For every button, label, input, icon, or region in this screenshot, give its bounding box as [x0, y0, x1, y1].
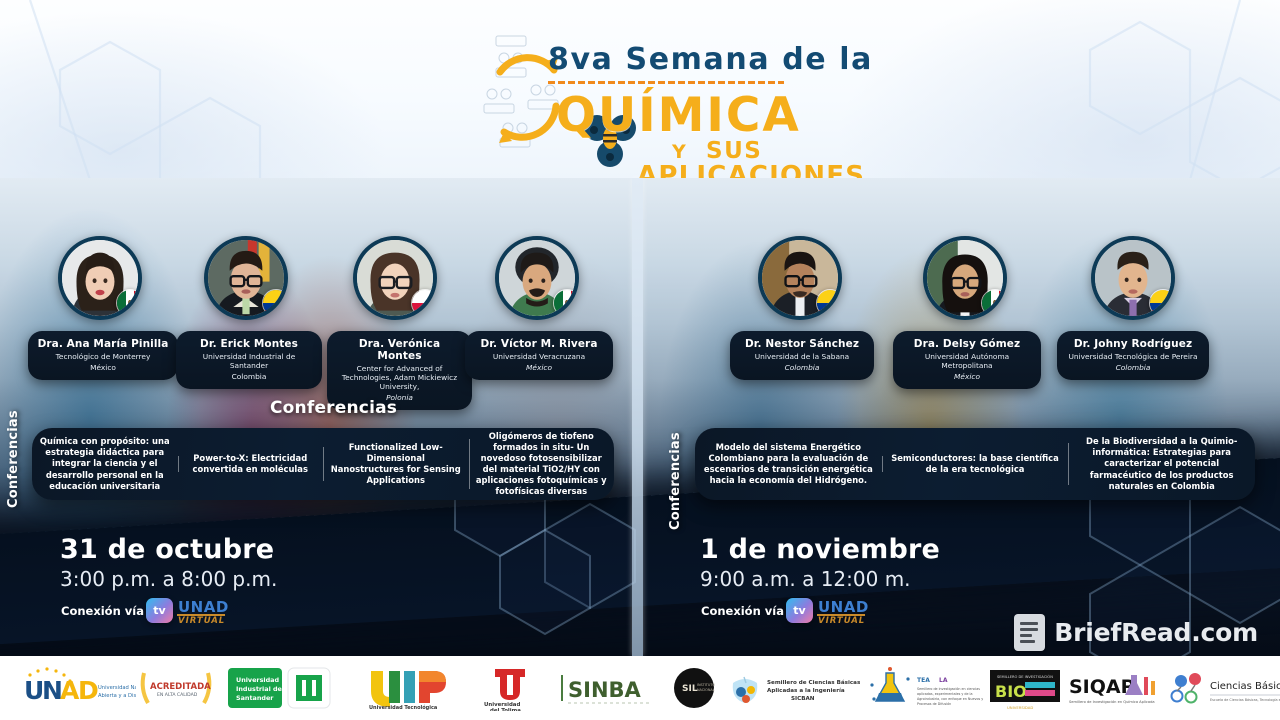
- speaker-country-text: Colombia: [1116, 363, 1151, 372]
- event-title-y: Y: [672, 141, 686, 163]
- panel-divider: [632, 178, 643, 656]
- svg-text:del Tolima: del Tolima: [490, 708, 521, 711]
- speaker-name-card: Dr. Nestor Sánchez Universidad de la Sab…: [730, 331, 874, 380]
- avatar: [923, 236, 1007, 320]
- avatar: [1091, 236, 1175, 320]
- svg-text:Aplicadas a la Ingeniería: Aplicadas a la Ingeniería: [767, 687, 845, 694]
- sponsor-logo-ciencias-basicas[interactable]: Ciencias Básicas Escuela de Ciencias Bás…: [1165, 662, 1280, 714]
- unad-virtual-text-left: VIRTUAL: [178, 616, 225, 626]
- svg-text:Universidad Tecnológica: Universidad Tecnológica: [369, 704, 437, 711]
- speaker-name-card: Dra. Ana María Pinilla Tecnológico de Mo…: [28, 331, 178, 380]
- title-underline-rule: [548, 81, 784, 84]
- sponsor-logo-tolima[interactable]: Universidad del Tolima: [467, 662, 553, 714]
- sponsor-logo-sicban[interactable]: Semillero de Ciencias Básicas Aplicadas …: [725, 662, 860, 714]
- talk-item[interactable]: Semiconductores: la base científica de l…: [882, 453, 1069, 475]
- svg-text:Industrial de: Industrial de: [236, 685, 283, 693]
- svg-text:SICBAN: SICBAN: [791, 696, 815, 702]
- speaker-affiliation: Universidad Veracruzana: [474, 352, 604, 361]
- utp-logo-icon: Universidad Tecnológica: [357, 665, 467, 711]
- sponsor-logo-seal[interactable]: SIL INSTITUTO NACIONAL: [663, 662, 725, 714]
- svg-text:Agroindustria, con enfoque en: Agroindustria, con enfoque en Nuevos y: [917, 697, 983, 701]
- event-date-right: 1 de noviembre: [700, 534, 940, 565]
- speaker-affiliation: Universidad Tecnológica de Pereira: [1066, 352, 1200, 361]
- speaker-name-card: Dr. Víctor M. Rivera Universidad Veracru…: [465, 331, 613, 380]
- conferencias-strip-right: Modelo del sistema Energético Colombiano…: [695, 428, 1255, 500]
- ciencias-basicas-logo-icon: Ciencias Básicas Escuela de Ciencias Bás…: [1165, 665, 1280, 711]
- speaker-country: México: [474, 363, 604, 372]
- svg-text:Santander: Santander: [236, 694, 274, 702]
- unad-tv-icon[interactable]: tv: [146, 598, 173, 623]
- svg-text:Procesos de Difusión: Procesos de Difusión: [917, 702, 951, 706]
- svg-text:ACREDITADA: ACREDITADA: [150, 682, 211, 692]
- svg-text:aplicadas, experimentales y de: aplicadas, experimentales y de la: [917, 692, 972, 696]
- acreditada-seal-icon: ACREDITADA EN ALTA CALIDAD: [136, 665, 216, 711]
- talk-item[interactable]: Oligómeros de tiofeno formados in situ- …: [469, 431, 615, 498]
- briefread-watermark[interactable]: BriefRead.com: [1014, 614, 1258, 651]
- connection-label-right: Conexión vía: [701, 604, 784, 618]
- header-band: 8va Semana de la QUÍMICA Y SUS APLICACIO…: [0, 0, 1280, 180]
- speaker-country: México: [37, 363, 169, 372]
- title-lockup: 8va Semana de la QUÍMICA Y SUS APLICACIO…: [0, 28, 1280, 178]
- speaker-country-text: Colombia: [785, 363, 820, 372]
- svg-text:Ciencias Básicas: Ciencias Básicas: [1210, 680, 1280, 692]
- speaker-name: Dr. Erick Montes: [185, 338, 313, 350]
- speaker-name: Dr. Johny Rodríguez: [1066, 338, 1200, 350]
- svg-text:SIQAP: SIQAP: [1069, 676, 1135, 698]
- svg-text:A: A: [60, 676, 80, 705]
- event-title-quimica: QUÍMICA: [556, 88, 801, 143]
- svg-text:SINBA: SINBA: [568, 678, 642, 702]
- svg-text:EN ALTA CALIDAD: EN ALTA CALIDAD: [157, 692, 198, 698]
- speaker-name: Dra. Verónica Montes: [336, 338, 463, 362]
- svg-text:Semillero de investigación en: Semillero de investigación en ciencias: [917, 687, 980, 691]
- svg-text:Universidad: Universidad: [236, 676, 279, 684]
- event-time-left: 3:00 p.m. a 8:00 p.m.: [60, 567, 277, 591]
- conferencias-side-label-left: Conferencias: [6, 418, 21, 508]
- black-circular-seal-icon: SIL INSTITUTO NACIONAL: [663, 665, 725, 711]
- document-icon: [1014, 614, 1045, 651]
- sponsor-logo-bio[interactable]: SEMILLERO DE INVESTIGACIÓN BIO UNIVERSID…: [985, 662, 1065, 714]
- sponsor-logo-siqap[interactable]: SIQAP Semillero de Investigación en Quím…: [1065, 662, 1165, 714]
- talk-item[interactable]: Functionalized Low-Dimensional Nanostruc…: [323, 442, 469, 486]
- svg-text:Universidad Nacional: Universidad Nacional: [98, 685, 136, 691]
- speaker-country: Colombia: [185, 372, 313, 381]
- watermark-text: BriefRead.com: [1054, 618, 1258, 647]
- speaker-affiliation: Tecnológico de Monterrey: [37, 352, 169, 361]
- sinba-logo-icon: SINBA: [553, 665, 663, 711]
- poster-root: 8va Semana de la QUÍMICA Y SUS APLICACIO…: [0, 0, 1280, 720]
- sponsor-logo-unad[interactable]: U N A D Universidad Nacional Abierta y a…: [16, 662, 136, 714]
- avatar: [495, 236, 579, 320]
- uis-logo-icon: Universidad Industrial de Santander: [226, 665, 351, 711]
- sponsor-logo-acreditada[interactable]: ACREDITADA EN ALTA CALIDAD: [136, 662, 216, 714]
- avatar: [353, 236, 437, 320]
- event-time-right: 9:00 a.m. a 12:00 m.: [700, 567, 911, 591]
- svg-text:Escuela de Ciencias Básicas, T: Escuela de Ciencias Básicas, Tecnología …: [1210, 698, 1280, 702]
- talk-item[interactable]: De la Biodiversidad a la Quimio-informát…: [1068, 436, 1255, 491]
- conferencias-side-label-right: Conferencias: [668, 440, 683, 530]
- svg-text:BIO: BIO: [995, 682, 1027, 701]
- speaker-affiliation: Universidad de la Sabana: [739, 352, 865, 361]
- sponsor-logo-sinba[interactable]: SINBA: [553, 662, 663, 714]
- speaker-country: Colombia: [1066, 363, 1200, 372]
- speaker-country: Colombia: [739, 363, 865, 372]
- speaker-name: Dra. Ana María Pinilla: [37, 338, 169, 350]
- event-title-line1: 8va Semana de la: [548, 42, 873, 77]
- unad-tv-icon[interactable]: tv: [786, 598, 813, 623]
- speaker-name: Dr. Nestor Sánchez: [739, 338, 865, 350]
- svg-text:SIL: SIL: [682, 684, 698, 694]
- svg-text:TEA: TEA: [917, 677, 930, 684]
- speaker-country-text: México: [954, 372, 980, 381]
- speaker-name: Dra. Delsy Gómez: [902, 338, 1032, 350]
- svg-text:Semillero de Ciencias Básicas: Semillero de Ciencias Básicas: [767, 679, 860, 686]
- svg-text:INSTITUTO: INSTITUTO: [697, 683, 715, 687]
- speaker-country-text: México: [526, 363, 552, 372]
- svg-text:SEMILLERO DE INVESTIGACIÓN: SEMILLERO DE INVESTIGACIÓN: [997, 674, 1053, 679]
- sponsor-logo-utp[interactable]: Universidad Tecnológica: [357, 662, 467, 714]
- speaker-name-card: Dr. Erick Montes Universidad Industrial …: [176, 331, 322, 389]
- svg-text:D: D: [78, 676, 99, 705]
- sicban-logo-icon: Semillero de Ciencias Básicas Aplicadas …: [725, 665, 860, 711]
- talk-item[interactable]: Modelo del sistema Energético Colombiano…: [695, 442, 882, 486]
- flask-research-group-icon: TEA LA Semillero de investigación en cie…: [860, 665, 985, 711]
- unad-virtual-text-right: VIRTUAL: [818, 616, 865, 626]
- speaker-name-card: Dr. Johny Rodríguez Universidad Tecnológ…: [1057, 331, 1209, 380]
- siqap-logo-icon: SIQAP Semillero de Investigación en Quím…: [1065, 665, 1165, 711]
- speaker-name-card: Dra. Delsy Gómez Universidad Autónoma Me…: [893, 331, 1041, 389]
- conferencias-heading: Conferencias: [270, 398, 397, 418]
- speaker-country: México: [902, 372, 1032, 381]
- speaker-affiliation: Universidad Industrial de Santander: [185, 352, 313, 370]
- avatar: [204, 236, 288, 320]
- event-date-left: 31 de octubre: [60, 534, 274, 565]
- svg-text:LA: LA: [939, 677, 948, 684]
- sponsor-logo-bar: U N A D Universidad Nacional Abierta y a…: [0, 656, 1280, 720]
- sponsor-logo-flask-group[interactable]: TEA LA Semillero de investigación en cie…: [860, 662, 985, 714]
- unad-logo-icon: U N A D Universidad Nacional Abierta y a…: [16, 665, 136, 711]
- talk-item[interactable]: Power-to-X: Electricidad convertida en m…: [178, 453, 324, 475]
- avatar: [58, 236, 142, 320]
- sponsor-logo-uis[interactable]: Universidad Industrial de Santander: [226, 662, 351, 714]
- connection-label-left: Conexión vía: [61, 604, 144, 618]
- bio-logo-icon: SEMILLERO DE INVESTIGACIÓN BIO UNIVERSID…: [985, 665, 1065, 711]
- speaker-affiliation: Universidad Autónoma Metropolitana: [902, 352, 1032, 370]
- svg-text:Semillero de Investigación en: Semillero de Investigación en Química Ap…: [1069, 700, 1155, 704]
- speaker-affiliation: Center for Advanced of Technologies, Ada…: [336, 364, 463, 391]
- svg-text:UNIVERSIDAD: UNIVERSIDAD: [1007, 705, 1033, 710]
- conferencias-strip-left: Química con propósito: una estrategia di…: [32, 428, 614, 500]
- svg-text:NACIONAL: NACIONAL: [697, 688, 715, 692]
- svg-text:Abierta y a Distancia: Abierta y a Distancia: [98, 693, 136, 699]
- universidad-del-tolima-icon: Universidad del Tolima: [467, 665, 553, 711]
- speaker-name: Dr. Víctor M. Rivera: [474, 338, 604, 350]
- talk-item[interactable]: Química con propósito: una estrategia di…: [32, 436, 178, 491]
- avatar: [758, 236, 842, 320]
